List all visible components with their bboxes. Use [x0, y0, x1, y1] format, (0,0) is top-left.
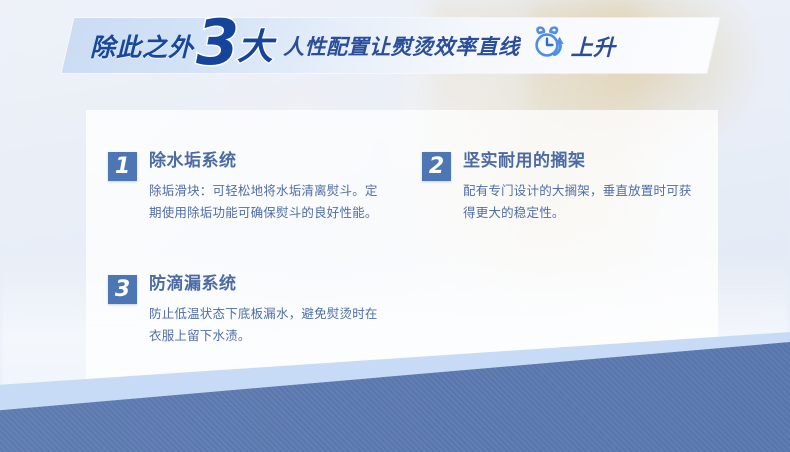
feature-number-badge: 1 — [108, 152, 137, 181]
headline-lead-text: 除此之外 — [90, 28, 194, 64]
feature-item-3: 3 防滴漏系统 防止低温状态下底板漏水，避免熨烫时在衣服上留下水渍。 — [108, 273, 388, 346]
headline-big-number: 3 — [196, 12, 239, 74]
header-banner-content: 除此之外 3 大 人性配置让熨烫效率直线 上升 — [68, 18, 713, 73]
feature-number-badge: 3 — [108, 275, 137, 304]
feature-item-1: 1 除水垢系统 除垢滑块：可轻松地将水垢清离熨斗。定期使用除垢功能可确保熨斗的良… — [108, 150, 388, 223]
feature-title: 坚实耐用的搁架 — [463, 151, 702, 171]
headline-unit-text: 大 — [237, 30, 273, 66]
headline-tail-text: 上升 — [571, 30, 616, 62]
feature-title: 防滴漏系统 — [149, 274, 388, 294]
features-card: 1 除水垢系统 除垢滑块：可轻松地将水垢清离熨斗。定期使用除垢功能可确保熨斗的良… — [86, 110, 718, 382]
alarm-clock-up-arrow-icon — [530, 25, 566, 66]
headline-middle-text: 人性配置让熨烫效率直线 — [283, 31, 520, 61]
feature-item-2: 2 坚实耐用的搁架 配有专门设计的大搁架，垂直放置时可获得更大的稳定性。 — [422, 150, 702, 223]
feature-number-badge: 2 — [422, 152, 451, 181]
header-banner: 除此之外 3 大 人性配置让熨烫效率直线 上升 — [68, 18, 713, 73]
feature-text-block: 坚实耐用的搁架 配有专门设计的大搁架，垂直放置时可获得更大的稳定性。 — [463, 150, 702, 223]
feature-text-block: 防滴漏系统 防止低温状态下底板漏水，避免熨烫时在衣服上留下水渍。 — [149, 273, 388, 346]
promo-banner-page: 除此之外 3 大 人性配置让熨烫效率直线 上升 1 — [0, 0, 790, 452]
feature-body: 除垢滑块：可轻松地将水垢清离熨斗。定期使用除垢功能可确保熨斗的良好性能。 — [149, 180, 388, 223]
feature-body: 防止低温状态下底板漏水，避免熨烫时在衣服上留下水渍。 — [149, 303, 388, 346]
feature-text-block: 除水垢系统 除垢滑块：可轻松地将水垢清离熨斗。定期使用除垢功能可确保熨斗的良好性… — [149, 150, 388, 223]
feature-title: 除水垢系统 — [149, 151, 388, 171]
feature-body: 配有专门设计的大搁架，垂直放置时可获得更大的稳定性。 — [463, 180, 702, 223]
